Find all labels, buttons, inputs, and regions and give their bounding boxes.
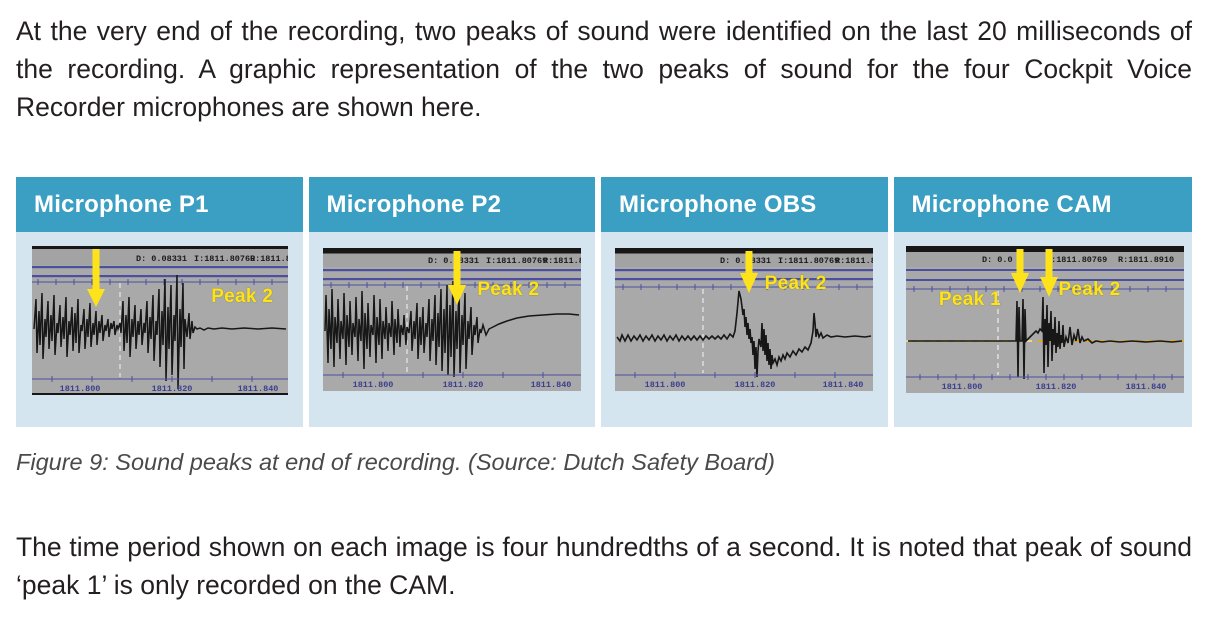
panel-microphone-obs: Microphone OBS D: 0.08331 I:1811.80769 R… bbox=[601, 177, 888, 427]
axis-tick-cam-1: 1811.820 bbox=[1035, 382, 1076, 392]
waveform-scope-cam: D: 0.0 I:1811.80769 R:1811.8910 bbox=[906, 246, 1184, 393]
panel-title-p2: Microphone P2 bbox=[327, 191, 502, 219]
axis-tick-obs-2: 1811.840 bbox=[823, 380, 864, 390]
readout-start-p1: I:1811.80769 bbox=[194, 254, 255, 264]
panel-header-p2: Microphone P2 bbox=[309, 177, 596, 232]
readout-end-obs: R:1811.8910 bbox=[835, 256, 873, 266]
readout-duration-cam: D: 0.0 bbox=[982, 255, 1013, 265]
panel-microphone-cam: Microphone CAM D: 0.0 I:1811.80769 R:181… bbox=[894, 177, 1192, 427]
cut-off-text-line bbox=[16, 0, 1192, 6]
panel-header-p1: Microphone P1 bbox=[16, 177, 303, 232]
axis-tick-p2-2: 1811.840 bbox=[530, 380, 571, 390]
axis-tick-cam-2: 1811.840 bbox=[1125, 382, 1166, 392]
waveform-svg-obs: D: 0.08331 I:1811.80769 R:1811.8910 bbox=[615, 251, 873, 391]
panel-body-obs: D: 0.08331 I:1811.80769 R:1811.8910 bbox=[601, 232, 888, 427]
axis-tick-p1-1: 1811.820 bbox=[152, 384, 193, 394]
paragraph-bottom-text: The time period shown on each image is f… bbox=[16, 528, 1192, 604]
paragraph-bottom: The time period shown on each image is f… bbox=[16, 528, 1192, 604]
figure-sound-peaks: Microphone P1 D: 0.08331 I:1811.80769 R:… bbox=[16, 177, 1192, 427]
panel-microphone-p2: Microphone P2 D: 0.08331 I:1811.80769 R:… bbox=[309, 177, 596, 427]
panel-header-cam: Microphone CAM bbox=[894, 177, 1192, 232]
waveform-scope-obs: D: 0.08331 I:1811.80769 R:1811.8910 bbox=[615, 248, 873, 391]
waveform-svg-cam: D: 0.0 I:1811.80769 R:1811.8910 bbox=[906, 249, 1184, 393]
axis-tick-p1-2: 1811.840 bbox=[238, 384, 279, 394]
waveform-scope-p2: D: 0.08331 I:1811.80769 R:1811.8910 bbox=[323, 248, 581, 391]
axis-tick-p1-0: 1811.800 bbox=[60, 384, 101, 394]
panel-body-cam: D: 0.0 I:1811.80769 R:1811.8910 bbox=[894, 232, 1192, 427]
waveform-svg-p1: D: 0.08331 I:1811.80769 R:1811.8910 bbox=[32, 249, 288, 395]
waveform-svg-p2: D: 0.08331 I:1811.80769 R:1811.8910 bbox=[323, 251, 581, 391]
waveform-scope-p1: D: 0.08331 I:1811.80769 R:1811.8910 bbox=[32, 246, 288, 395]
readout-end-p2: R:1811.8910 bbox=[543, 256, 581, 266]
document-page: At the very end of the recording, two pe… bbox=[0, 0, 1211, 622]
panel-title-p1: Microphone P1 bbox=[34, 191, 209, 219]
readout-end-cam: R:1811.8910 bbox=[1118, 255, 1174, 265]
axis-tick-p2-0: 1811.800 bbox=[352, 380, 393, 390]
panel-header-obs: Microphone OBS bbox=[601, 177, 888, 232]
panel-title-obs: Microphone OBS bbox=[619, 191, 816, 219]
axis-tick-p2-1: 1811.820 bbox=[442, 380, 483, 390]
readout-duration-p1: D: 0.08331 bbox=[136, 254, 187, 264]
axis-tick-obs-0: 1811.800 bbox=[645, 380, 686, 390]
figure-caption: Figure 9: Sound peaks at end of recordin… bbox=[16, 447, 1016, 477]
panel-body-p1: D: 0.08331 I:1811.80769 R:1811.8910 bbox=[16, 232, 303, 427]
readout-start-cam: I:1811.80769 bbox=[1046, 255, 1107, 265]
axis-tick-cam-0: 1811.800 bbox=[941, 382, 982, 392]
readout-end-p1: R:1811.8910 bbox=[250, 254, 288, 264]
axis-tick-obs-1: 1811.820 bbox=[735, 380, 776, 390]
panel-body-p2: D: 0.08331 I:1811.80769 R:1811.8910 bbox=[309, 232, 596, 427]
panel-title-cam: Microphone CAM bbox=[912, 191, 1112, 219]
paragraph-top-text: At the very end of the recording, two pe… bbox=[16, 12, 1192, 126]
paragraph-top: At the very end of the recording, two pe… bbox=[16, 12, 1192, 126]
panel-microphone-p1: Microphone P1 D: 0.08331 I:1811.80769 R:… bbox=[16, 177, 303, 427]
readout-start-obs: I:1811.80769 bbox=[778, 256, 839, 266]
readout-start-p2: I:1811.80769 bbox=[486, 256, 547, 266]
